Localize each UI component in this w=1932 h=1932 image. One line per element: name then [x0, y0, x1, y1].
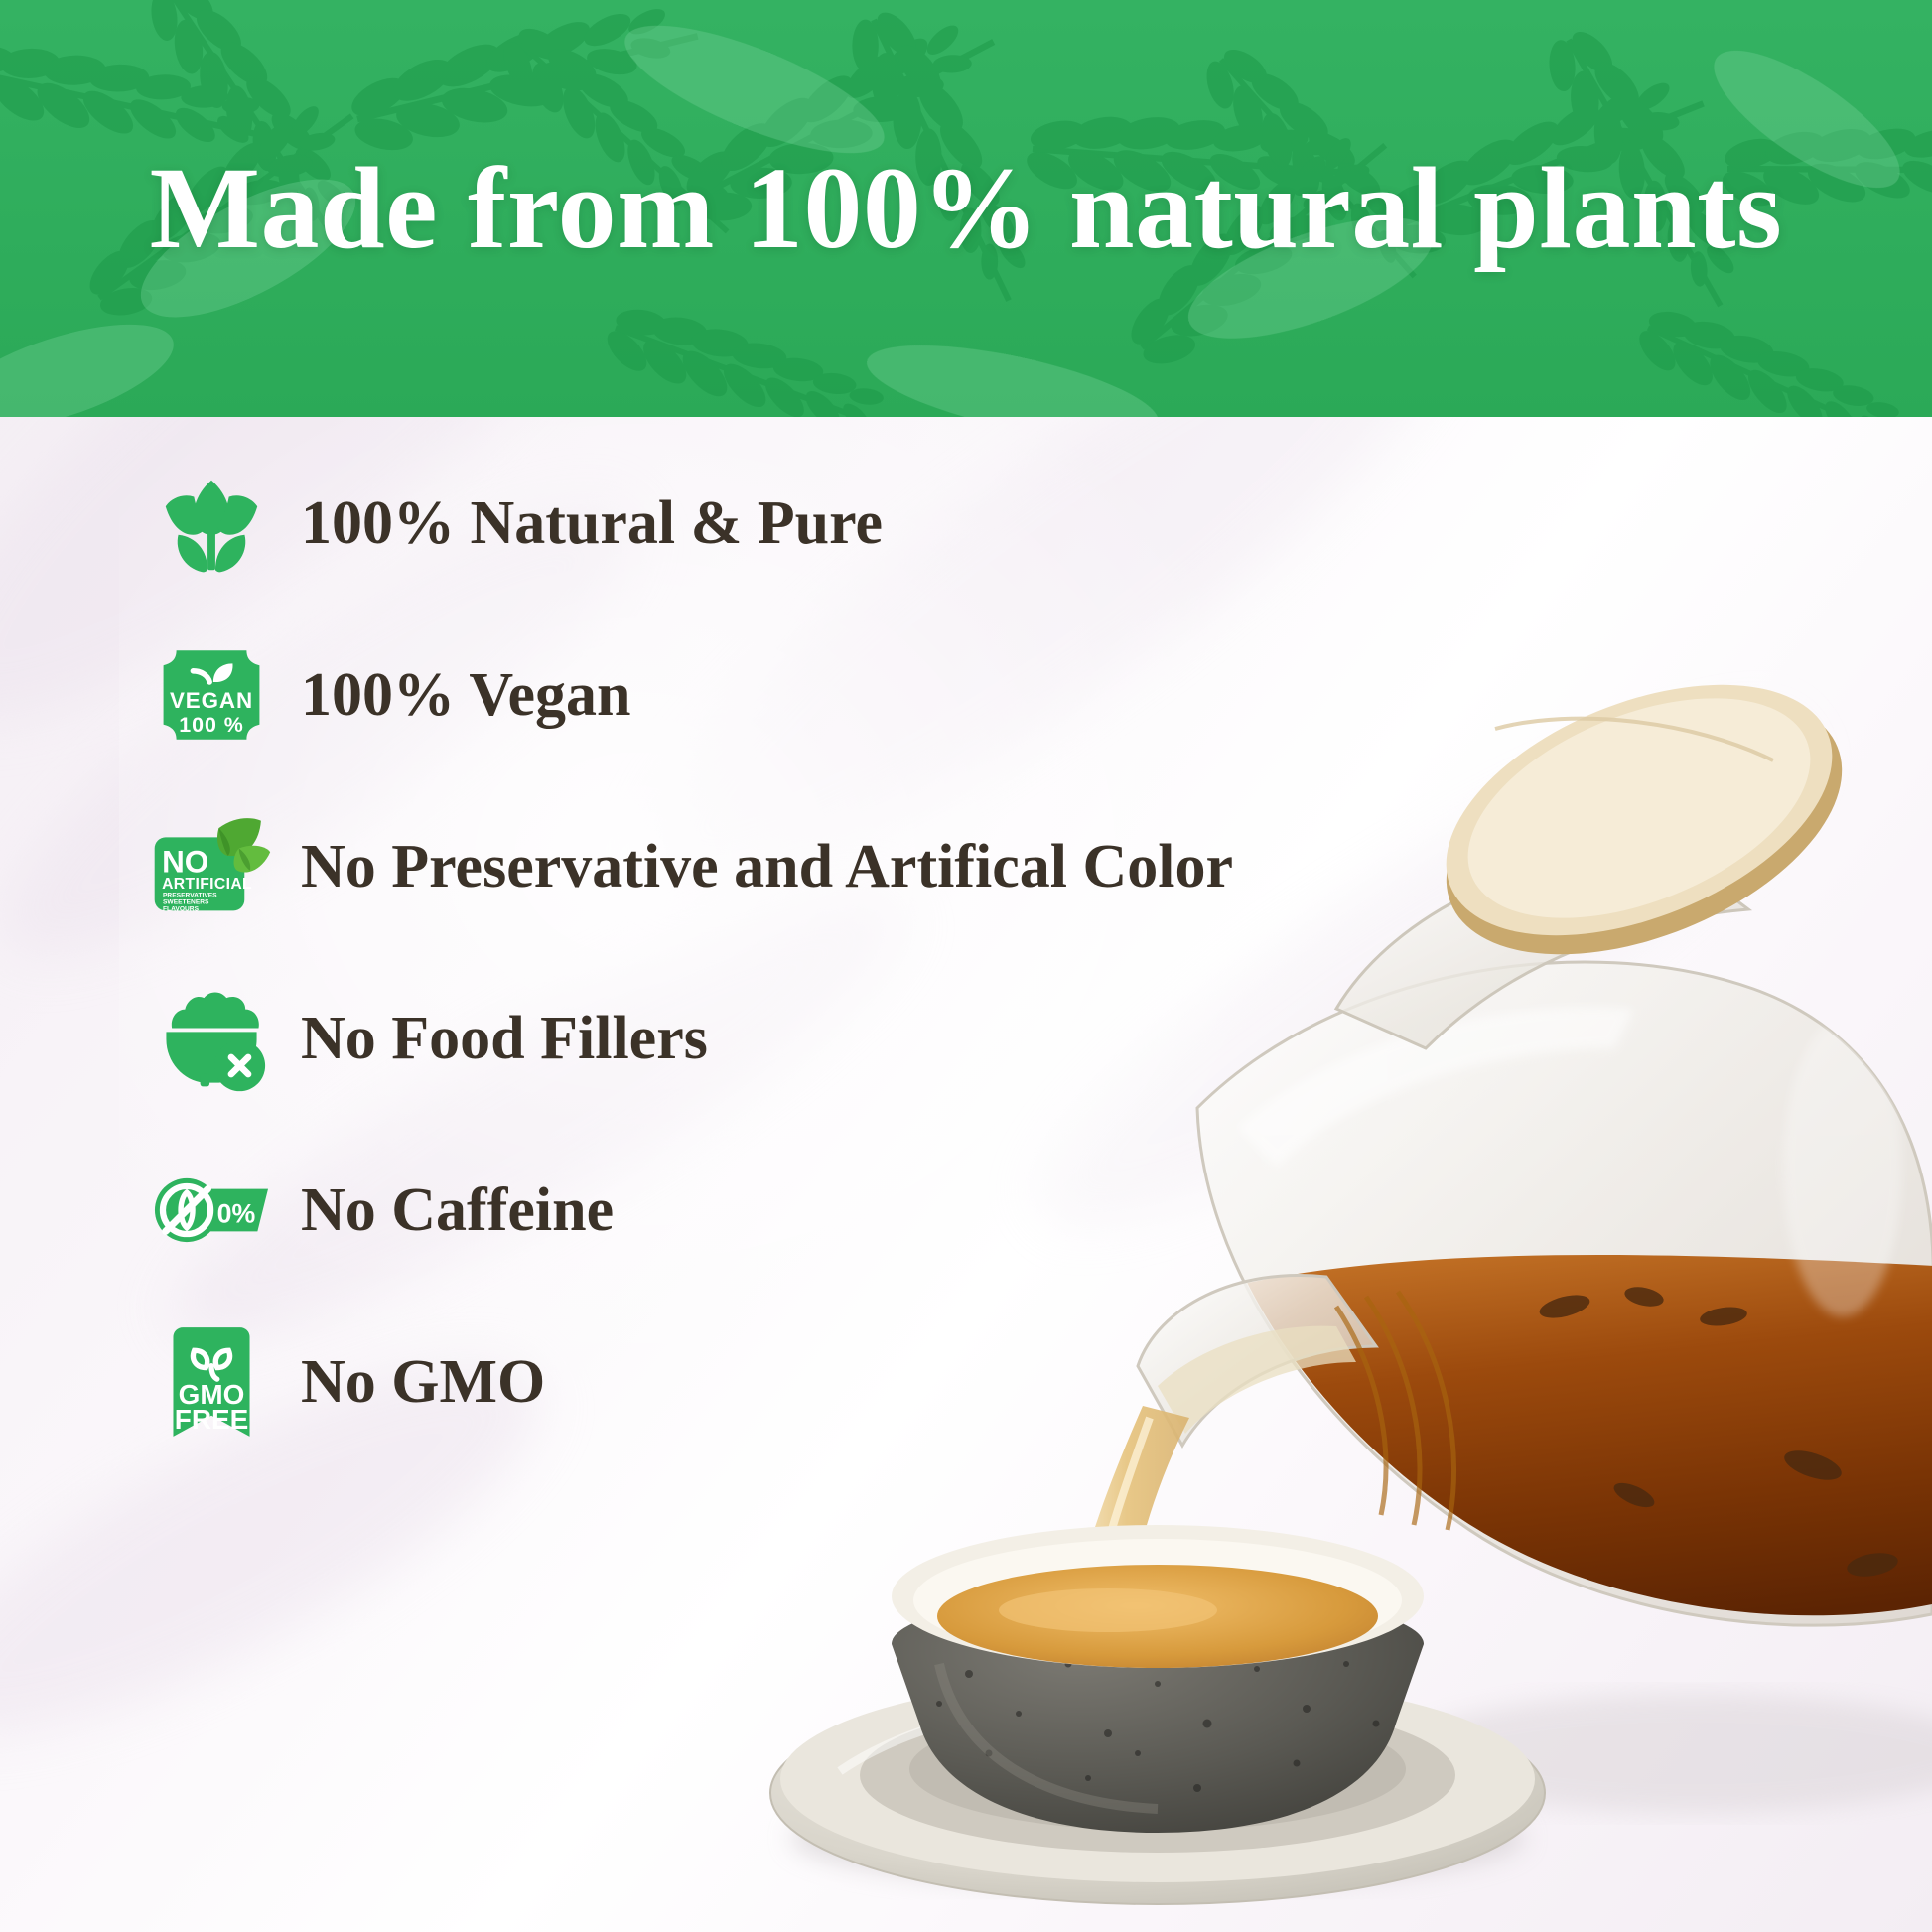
no-artificial-line2: ARTIFICIAL: [162, 876, 252, 893]
feature-label: 100% Natural & Pure: [301, 492, 883, 554]
bowl-no-fillers-icon: [149, 976, 273, 1100]
header-banner: Made from 100% natural plants: [0, 0, 1932, 417]
no-artificial-badge-icon: NO ARTIFICIAL PRESERVATIVES SWEETENERS F…: [149, 804, 273, 928]
no-artificial-bullet-0: PRESERVATIVES: [163, 892, 217, 898]
feature-label: No GMO: [301, 1351, 545, 1413]
feature-label: No Preservative and Artifical Color: [301, 836, 1233, 897]
feature-label: 100% Vegan: [301, 664, 630, 726]
feature-row: No Food Fillers: [149, 952, 1291, 1124]
vegan-badge-line2: 100 %: [179, 713, 243, 737]
infographic-canvas: Made from 100% natural plants 100% Natur…: [0, 0, 1932, 1932]
feature-row: 0% No Caffeine: [149, 1124, 1291, 1296]
feature-label: No Caffeine: [301, 1179, 614, 1241]
feature-row: NO ARTIFICIAL PRESERVATIVES SWEETENERS F…: [149, 780, 1291, 952]
caffeine-zero-label: 0%: [216, 1198, 255, 1228]
page-title: Made from 100% natural plants: [0, 0, 1932, 417]
plant-flower-icon: [149, 461, 273, 585]
gmo-line2: FREE: [174, 1404, 247, 1435]
gmo-free-ribbon-icon: GMO FREE: [149, 1319, 273, 1444]
feature-row: 100% Natural & Pure: [149, 437, 1291, 609]
no-artificial-bullet-2: FLAVOURS: [163, 905, 200, 912]
vegan-100-badge-icon: VEGAN 100 %: [149, 632, 273, 757]
no-artificial-line1: NO: [162, 844, 208, 879]
no-caffeine-zero-percent-icon: 0%: [149, 1148, 273, 1272]
feature-label: No Food Fillers: [301, 1008, 708, 1069]
feature-row: VEGAN 100 % 100% Vegan: [149, 609, 1291, 780]
vegan-badge-line1: VEGAN: [169, 688, 252, 713]
feature-list: 100% Natural & Pure VEGAN 100 % 100% Veg…: [149, 437, 1291, 1467]
feature-row: GMO FREE No GMO: [149, 1296, 1291, 1467]
no-artificial-bullet-1: SWEETENERS: [163, 898, 209, 905]
